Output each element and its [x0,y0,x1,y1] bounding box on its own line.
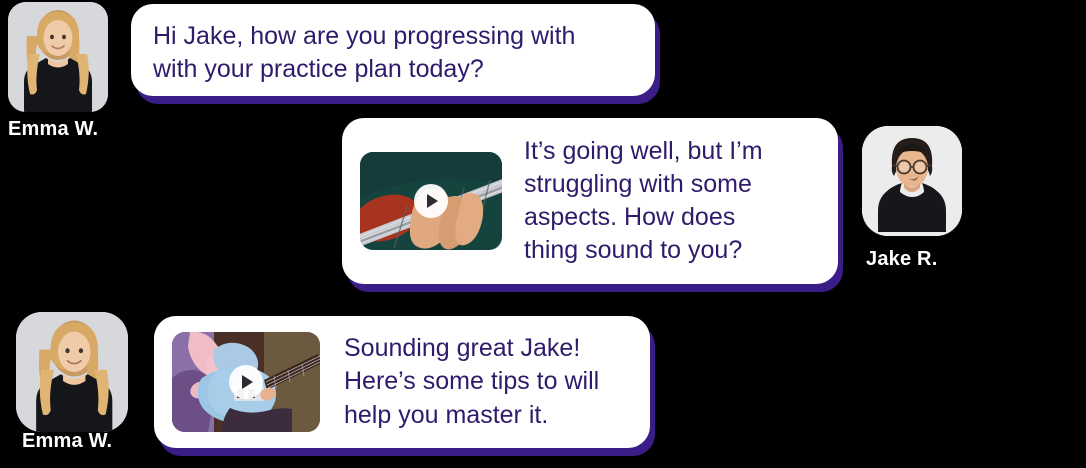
chat-mockup-stage: Emma W. Hi Jake, how are you progressing… [0,0,1086,468]
name-label-student: Jake R. [866,248,937,271]
name-label-tutor-top: Emma W. [8,118,98,141]
chat-bubble-1-text: Hi Jake, how are you progressing with wi… [153,20,575,87]
chat-bubble-1[interactable]: Hi Jake, how are you progressing with wi… [131,4,655,96]
avatar-woman-blonde-icon [8,2,108,112]
avatar-man-glasses-icon [862,126,962,236]
avatar-tutor-bottom[interactable] [16,312,128,432]
play-icon[interactable] [229,365,263,399]
play-icon[interactable] [414,184,448,218]
video-thumbnail-2[interactable] [360,152,502,250]
chat-bubble-2-text: It’s going well, but I’m struggling with… [520,135,763,268]
chat-bubble-2[interactable]: It’s going well, but I’m struggling with… [342,118,838,284]
avatar-student[interactable] [862,126,962,236]
video-thumbnail-3[interactable] [172,332,320,432]
avatar-woman-blonde-icon [16,312,128,432]
chat-bubble-3-text: Sounding great Jake! Here’s some tips to… [338,332,599,432]
avatar-tutor-top[interactable] [8,2,108,112]
name-label-tutor-bottom: Emma W. [22,430,112,453]
chat-bubble-3[interactable]: Sounding great Jake! Here’s some tips to… [154,316,650,448]
